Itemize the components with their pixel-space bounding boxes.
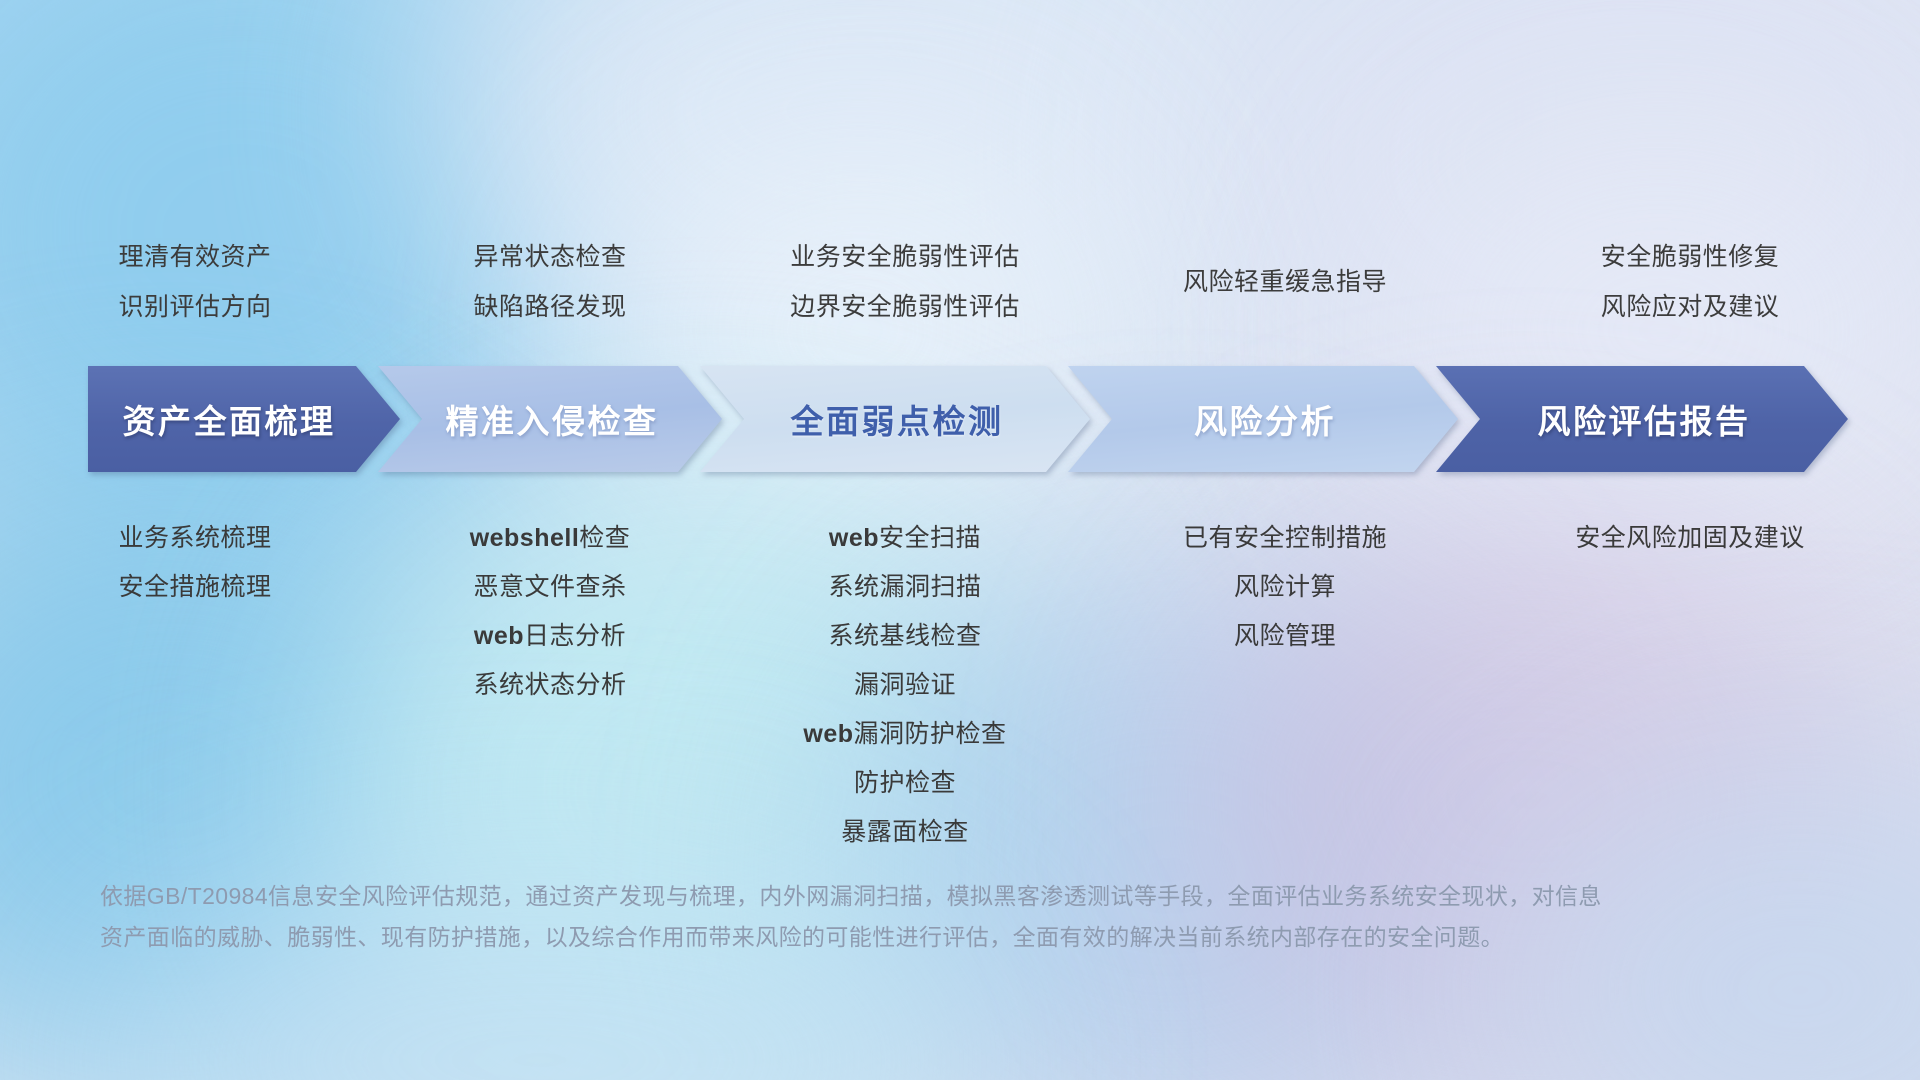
bottom-label-item: 风险计算 (1234, 563, 1336, 612)
bottom-label-text: 安全风险加固及建议 (1575, 524, 1805, 552)
footer-line-2: 资产面临的威胁、脆弱性、现有防护措施，以及综合作用而带来风险的可能性进行评估，全… (100, 917, 1800, 958)
chevron-stage-risk-report[interactable]: 风险评估报告 (1436, 366, 1848, 472)
bottom-label-keyword: web (474, 622, 524, 650)
bottom-label-item: 业务系统梳理 (118, 514, 271, 563)
top-label-item: 风险应对及建议 (1601, 282, 1780, 332)
bottom-labels-intrusion-check: webshell检查恶意文件查杀web日志分析系统状态分析 (380, 514, 720, 710)
bottom-labels-asset-inventory: 业务系统梳理安全措施梳理 (10, 514, 380, 612)
bottom-labels-risk-report: 安全风险加固及建议 (1480, 514, 1900, 563)
bottom-label-text: 业务系统梳理 (118, 524, 271, 552)
footer-description: 依据GB/T20984信息安全风险评估规范，通过资产发现与梳理，内外网漏洞扫描，… (100, 876, 1800, 958)
top-labels-weakness-detection: 业务安全脆弱性评估边界安全脆弱性评估 (720, 232, 1090, 332)
chevron-label-5: 风险评估报告 (1436, 395, 1848, 443)
top-label-item: 业务安全脆弱性评估 (790, 232, 1020, 282)
chevron-stage-weakness-detection[interactable]: 全面弱点检测 (700, 366, 1090, 472)
bottom-label-text: 系统状态分析 (473, 671, 626, 699)
chevron-stage-asset-inventory[interactable]: 资产全面梳理 (88, 366, 400, 472)
top-label-item: 识别评估方向 (118, 282, 271, 332)
chevron-label-2: 精准入侵检查 (378, 395, 722, 443)
chevron-label-4: 风险分析 (1068, 395, 1458, 443)
top-labels-risk-analysis: 风险轻重缓急指导 (1090, 257, 1480, 307)
top-label-item: 边界安全脆弱性评估 (790, 282, 1020, 332)
bottom-label-item: 已有安全控制措施 (1183, 514, 1387, 563)
top-labels-intrusion-check: 异常状态检查缺陷路径发现 (380, 232, 720, 332)
chevron-stage-intrusion-check[interactable]: 精准入侵检查 (378, 366, 722, 472)
bottom-label-item: 系统漏洞扫描 (828, 563, 981, 612)
bottom-label-item: web安全扫描 (829, 514, 981, 563)
chevron-label-1: 资产全面梳理 (88, 395, 400, 443)
bottom-label-text: 日志分析 (524, 622, 626, 650)
bottom-label-item: 风险管理 (1234, 612, 1336, 661)
bottom-label-keyword: web (803, 720, 853, 748)
top-label-item: 缺陷路径发现 (473, 282, 626, 332)
bottom-label-text: 风险计算 (1234, 573, 1336, 601)
bottom-label-keyword: web (829, 524, 879, 552)
diagram-stage: 理清有效资产识别评估方向 异常状态检查缺陷路径发现 业务安全脆弱性评估边界安全脆… (0, 0, 1920, 1080)
chevron-label-3: 全面弱点检测 (700, 395, 1090, 443)
footer-line-1: 依据GB/T20984信息安全风险评估规范，通过资产发现与梳理，内外网漏洞扫描，… (100, 876, 1800, 917)
top-label-item: 安全脆弱性修复 (1601, 232, 1780, 282)
top-labels-asset-inventory: 理清有效资产识别评估方向 (10, 232, 380, 332)
bottom-label-item: 防护检查 (854, 759, 956, 808)
bottom-label-text: 安全措施梳理 (118, 573, 271, 601)
bottom-label-text: 检查 (579, 524, 630, 552)
bottom-label-item: 系统基线检查 (828, 612, 981, 661)
stage-top-labels-row: 理清有效资产识别评估方向 异常状态检查缺陷路径发现 业务安全脆弱性评估边界安全脆… (0, 232, 1920, 332)
bottom-label-item: web漏洞防护检查 (803, 710, 1006, 759)
top-label-item: 风险轻重缓急指导 (1183, 257, 1387, 307)
bottom-label-text: 暴露面检查 (841, 818, 969, 846)
top-labels-risk-report: 安全脆弱性修复风险应对及建议 (1480, 232, 1900, 332)
bottom-label-text: 风险管理 (1234, 622, 1336, 650)
bottom-label-item: 安全措施梳理 (118, 563, 271, 612)
bottom-label-item: 系统状态分析 (473, 661, 626, 710)
bottom-label-item: 漏洞验证 (854, 661, 956, 710)
bottom-label-text: 漏洞防护检查 (854, 720, 1007, 748)
bottom-label-text: 漏洞验证 (854, 671, 956, 699)
bottom-label-item: webshell检查 (470, 514, 631, 563)
bottom-label-text: 系统基线检查 (828, 622, 981, 650)
bottom-label-keyword: webshell (470, 524, 580, 552)
chevron-stage-risk-analysis[interactable]: 风险分析 (1068, 366, 1458, 472)
bottom-label-item: web日志分析 (474, 612, 626, 661)
stage-bottom-labels-row: 业务系统梳理安全措施梳理 webshell检查恶意文件查杀web日志分析系统状态… (0, 514, 1920, 857)
bottom-label-item: 恶意文件查杀 (473, 563, 626, 612)
bottom-label-item: 暴露面检查 (841, 808, 969, 857)
process-chevron-banner: 资产全面梳理 精准入侵检查 全面弱点检测 风险分析 风险评估报告 (0, 366, 1920, 472)
top-label-item: 异常状态检查 (473, 232, 626, 282)
top-label-item: 理清有效资产 (118, 232, 271, 282)
bottom-label-text: 已有安全控制措施 (1183, 524, 1387, 552)
bottom-label-text: 恶意文件查杀 (473, 573, 626, 601)
bottom-label-text: 系统漏洞扫描 (828, 573, 981, 601)
bottom-label-text: 安全扫描 (879, 524, 981, 552)
bottom-label-text: 防护检查 (854, 769, 956, 797)
bottom-label-item: 安全风险加固及建议 (1575, 514, 1805, 563)
bottom-labels-weakness-detection: web安全扫描系统漏洞扫描系统基线检查漏洞验证web漏洞防护检查防护检查暴露面检… (720, 514, 1090, 857)
bottom-labels-risk-analysis: 已有安全控制措施风险计算风险管理 (1090, 514, 1480, 661)
